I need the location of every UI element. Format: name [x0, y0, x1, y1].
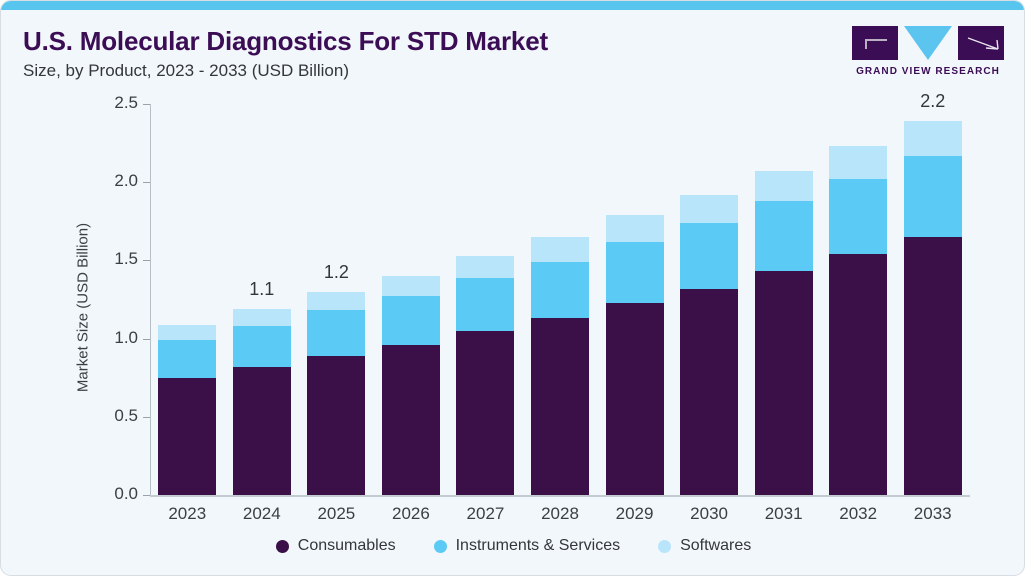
bar-segment-consumables[interactable]	[606, 303, 664, 495]
bar-segment-instruments[interactable]	[382, 296, 440, 344]
bar-segment-instruments[interactable]	[829, 179, 887, 254]
bar-group[interactable]	[456, 104, 514, 495]
bar-segment-consumables[interactable]	[531, 318, 589, 495]
bar-segment-consumables[interactable]	[456, 331, 514, 495]
bar-segment-consumables[interactable]	[680, 289, 738, 495]
bar-segment-softwares[interactable]	[382, 276, 440, 296]
bar-segment-instruments[interactable]	[233, 326, 291, 367]
bar-group[interactable]	[606, 104, 664, 495]
bar-segment-instruments[interactable]	[680, 223, 738, 289]
y-tick-label: 0.0	[94, 484, 138, 504]
bar-segment-instruments[interactable]	[456, 278, 514, 331]
legend-item[interactable]: Instruments & Services	[434, 537, 621, 555]
bar-segment-softwares[interactable]	[680, 195, 738, 223]
y-tick-mark	[143, 260, 150, 261]
bar-group[interactable]	[904, 104, 962, 495]
legend-swatch-icon	[658, 540, 671, 553]
bar-segment-softwares[interactable]	[307, 292, 365, 311]
bar-group[interactable]	[382, 104, 440, 495]
bar-value-label: 1.1	[222, 279, 302, 300]
bar-segment-softwares[interactable]	[233, 309, 291, 326]
bar-segment-instruments[interactable]	[158, 340, 216, 378]
legend-swatch-icon	[276, 540, 289, 553]
y-tick-label: 0.5	[94, 406, 138, 426]
bar-segment-instruments[interactable]	[755, 201, 813, 271]
bar-segment-instruments[interactable]	[606, 242, 664, 303]
y-axis-label: Market Size (USD Billion)	[75, 193, 92, 423]
chart-card: U.S. Molecular Diagnostics For STD Marke…	[0, 0, 1025, 576]
bar-segment-consumables[interactable]	[829, 254, 887, 495]
bar-segment-softwares[interactable]	[456, 256, 514, 278]
bar-group[interactable]	[680, 104, 738, 495]
bar-segment-softwares[interactable]	[829, 146, 887, 179]
bar-segment-consumables[interactable]	[158, 378, 216, 495]
y-tick-mark	[143, 495, 150, 496]
legend-swatch-icon	[434, 540, 447, 553]
bar-segment-instruments[interactable]	[307, 310, 365, 355]
chart-legend: ConsumablesInstruments & ServicesSoftwar…	[1, 537, 1025, 555]
bar-value-label: 2.2	[893, 91, 973, 112]
y-tick-mark	[143, 339, 150, 340]
bar-segment-softwares[interactable]	[904, 121, 962, 155]
x-tick-label: 2025	[293, 504, 379, 524]
bar-segment-instruments[interactable]	[531, 262, 589, 318]
y-tick-mark	[143, 182, 150, 183]
x-tick-label: 2031	[741, 504, 827, 524]
x-tick-label: 2024	[219, 504, 305, 524]
bar-segment-softwares[interactable]	[531, 237, 589, 262]
y-tick-label: 1.5	[94, 249, 138, 269]
x-tick-label: 2028	[517, 504, 603, 524]
x-tick-label: 2023	[144, 504, 230, 524]
legend-item[interactable]: Consumables	[276, 537, 396, 555]
bar-segment-consumables[interactable]	[755, 271, 813, 495]
bar-group[interactable]	[755, 104, 813, 495]
legend-label: Instruments & Services	[456, 537, 621, 555]
bar-segment-consumables[interactable]	[233, 367, 291, 495]
bar-group[interactable]	[158, 104, 216, 495]
x-tick-label: 2027	[442, 504, 528, 524]
bar-segment-consumables[interactable]	[382, 345, 440, 495]
bar-segment-consumables[interactable]	[307, 356, 365, 495]
x-tick-label: 2030	[666, 504, 752, 524]
x-tick-label: 2026	[368, 504, 454, 524]
bar-segment-instruments[interactable]	[904, 156, 962, 237]
legend-label: Consumables	[298, 537, 396, 555]
y-tick-label: 1.0	[94, 328, 138, 348]
bar-segment-consumables[interactable]	[904, 237, 962, 495]
bar-group[interactable]	[829, 104, 887, 495]
bar-value-label: 1.2	[296, 262, 376, 283]
y-tick-mark	[143, 104, 150, 105]
legend-item[interactable]: Softwares	[658, 537, 751, 555]
x-tick-label: 2032	[815, 504, 901, 524]
bar-segment-softwares[interactable]	[606, 215, 664, 242]
bar-segment-softwares[interactable]	[158, 325, 216, 341]
x-tick-label: 2033	[890, 504, 976, 524]
legend-label: Softwares	[680, 537, 751, 555]
x-tick-label: 2029	[592, 504, 678, 524]
bar-group[interactable]	[307, 104, 365, 495]
bar-segment-softwares[interactable]	[755, 171, 813, 201]
bar-group[interactable]	[531, 104, 589, 495]
y-tick-mark	[143, 417, 150, 418]
y-tick-label: 2.5	[94, 93, 138, 113]
y-tick-label: 2.0	[94, 171, 138, 191]
y-axis-line	[150, 104, 151, 496]
x-axis-line	[150, 495, 970, 497]
bar-chart-plot: Market Size (USD Billion) 0.00.51.01.52.…	[1, 1, 1025, 576]
